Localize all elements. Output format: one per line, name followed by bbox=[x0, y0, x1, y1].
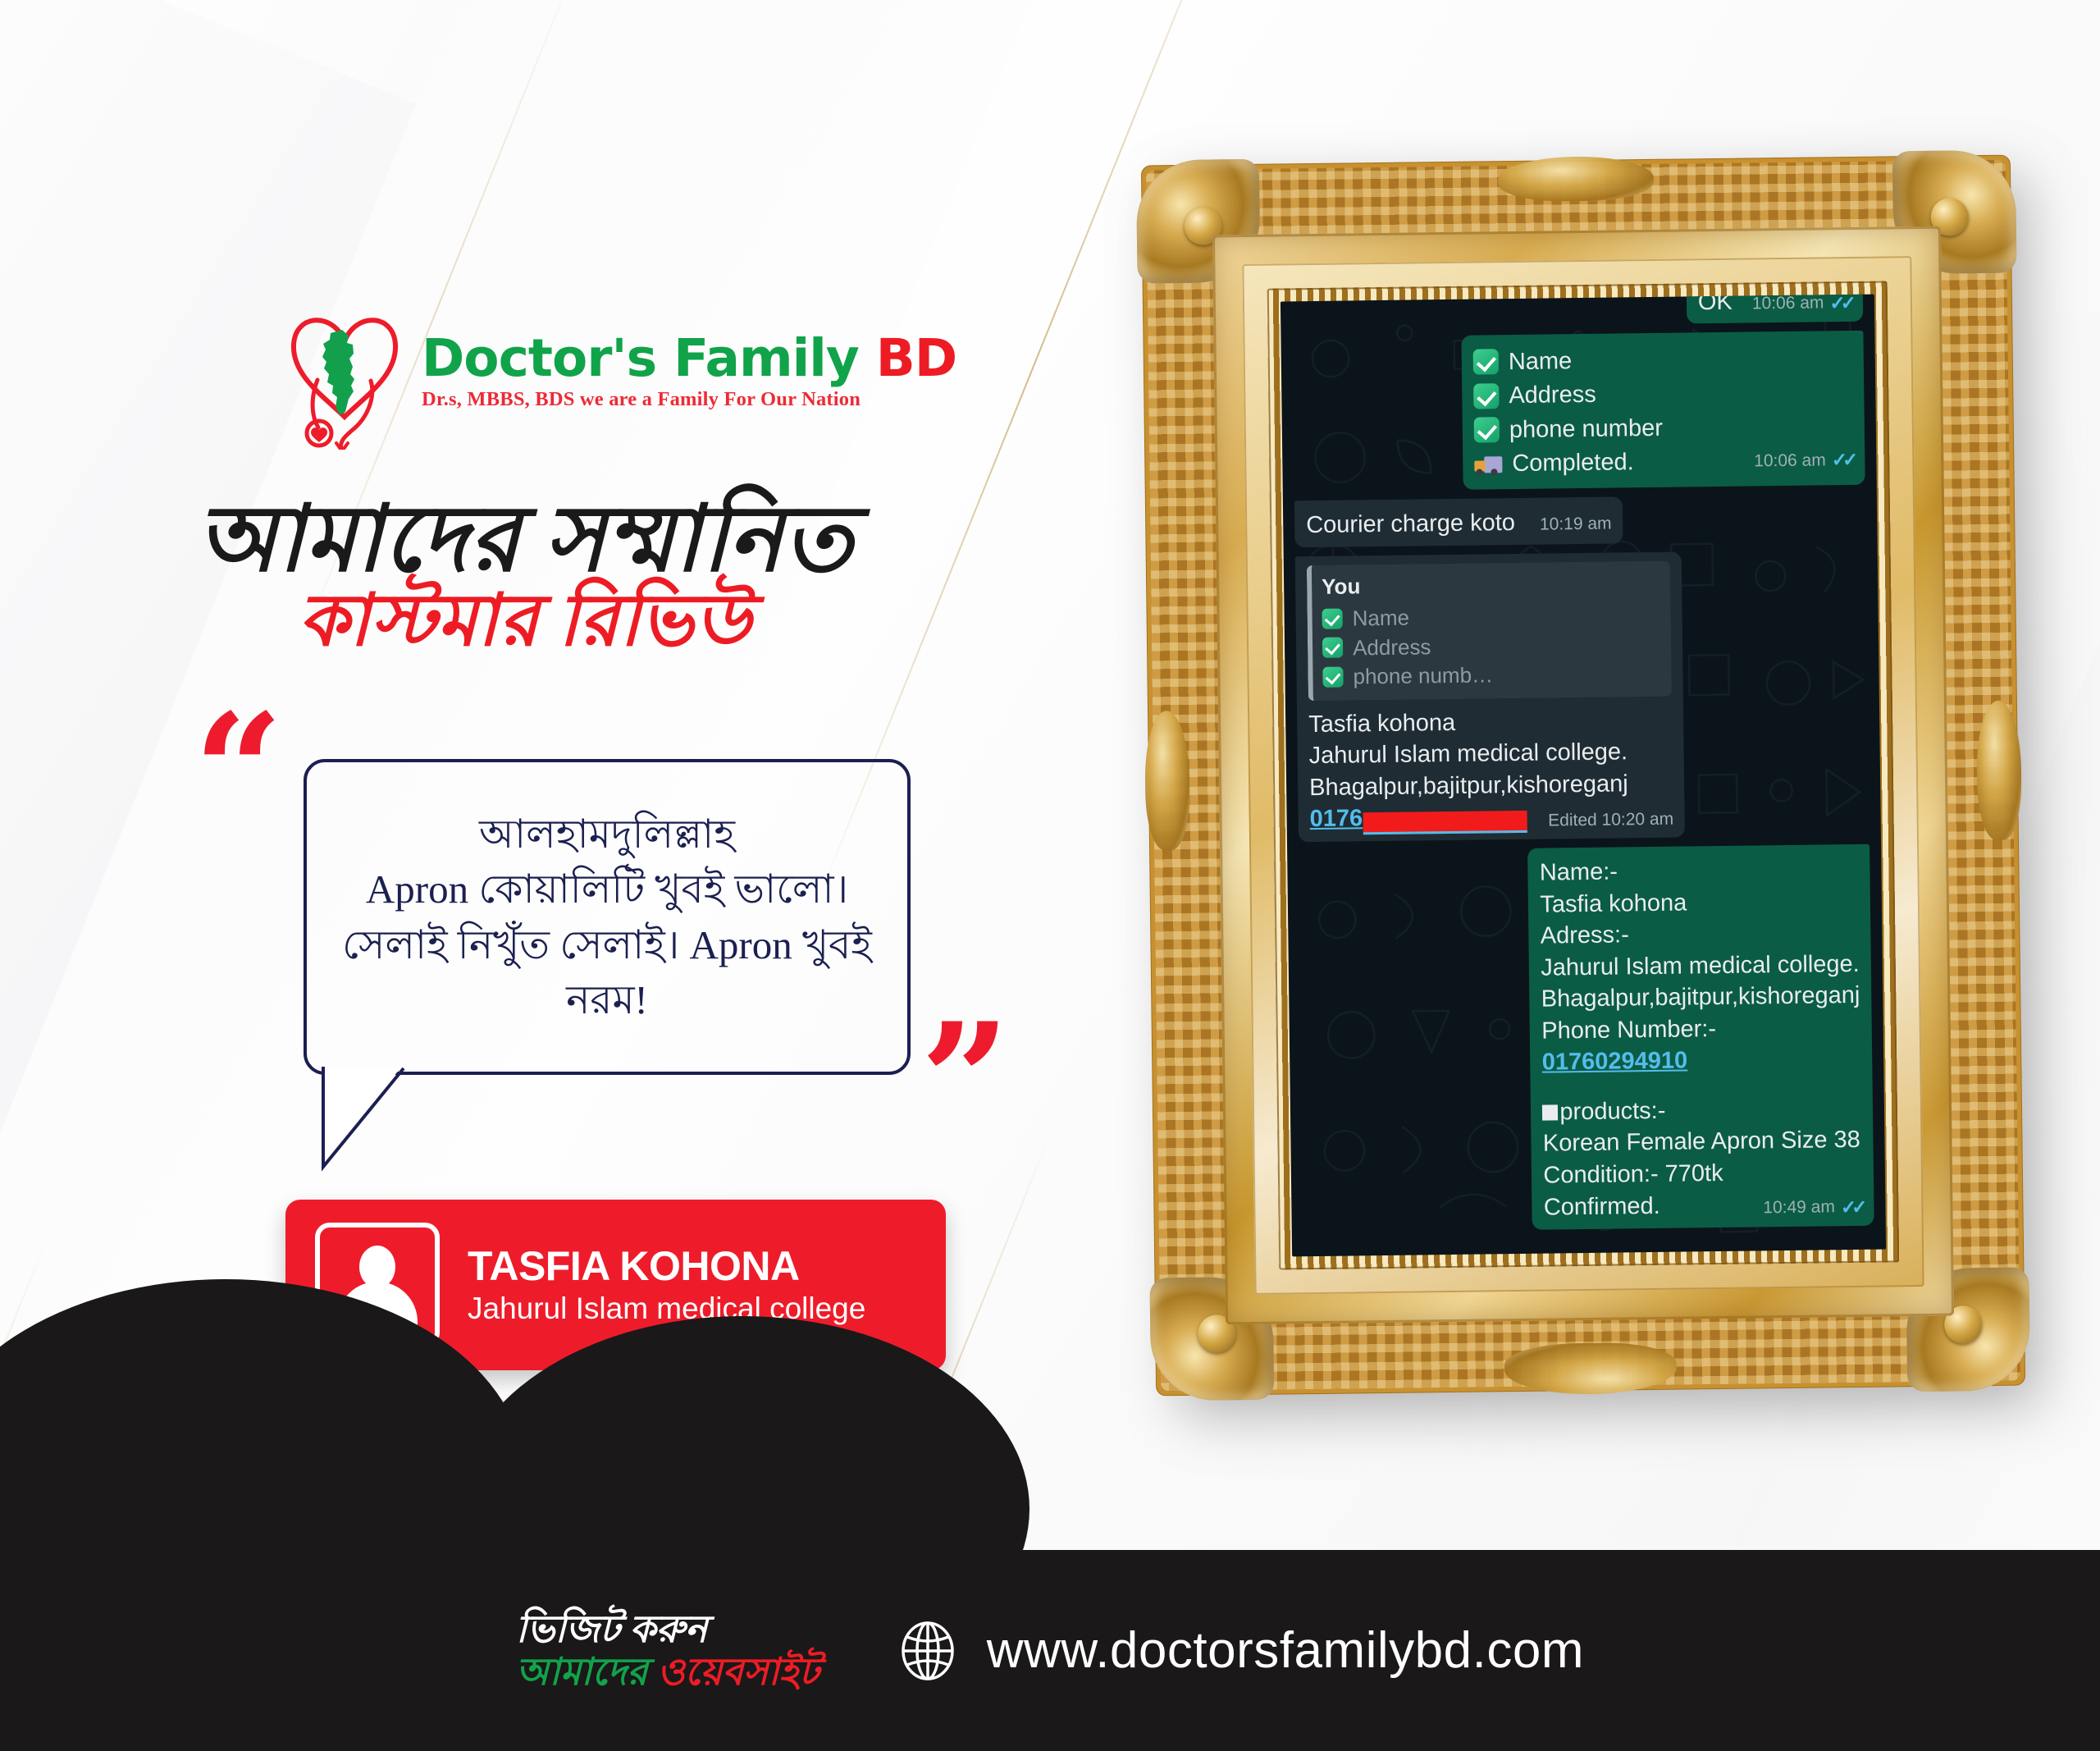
quoted-reply: You Name Address phone numb… bbox=[1307, 561, 1672, 701]
chat-message-customer-details[interactable]: You Name Address phone numb… bbox=[1295, 550, 1869, 842]
read-ticks-icon: ✓✓ bbox=[1841, 1194, 1863, 1219]
brand-tagline: Dr.s, MBBS, BDS we are a Family For Our … bbox=[422, 388, 956, 411]
truck-icon bbox=[1474, 454, 1502, 475]
visit-line-2: আমাদের ওয়েবসাইট bbox=[516, 1653, 819, 1692]
frame-edge-leaf bbox=[1498, 156, 1655, 202]
checklist-item: Address bbox=[1473, 376, 1852, 412]
page-title: আমাদের সম্মানিত কাস্টমার রিভিউ bbox=[0, 492, 1050, 660]
quoted-author: You bbox=[1322, 569, 1661, 601]
check-icon bbox=[1474, 418, 1500, 443]
check-icon bbox=[1473, 383, 1499, 409]
quoted-label: Name bbox=[1352, 604, 1409, 633]
check-icon bbox=[1322, 666, 1343, 687]
detail-line: Jahurul Islam medical college. bbox=[1308, 736, 1673, 772]
bubble-tail bbox=[322, 1067, 445, 1172]
customer-info: TASFIA KOHONA Jahurul Islam medical coll… bbox=[468, 1243, 865, 1327]
brand-title-red: BD bbox=[859, 328, 956, 388]
field-value: Tasfia kohona bbox=[1540, 885, 1859, 920]
quote-open-icon: “ bbox=[194, 693, 283, 849]
chat-message-checklist[interactable]: Name Address phone number Compl bbox=[1292, 330, 1865, 491]
quoted-label: Address bbox=[1353, 633, 1431, 662]
customer-name: TASFIA KOHONA bbox=[468, 1243, 865, 1289]
visit-line-1: ভিজিট করুন bbox=[516, 1610, 707, 1649]
brand-logo: Doctor's Family BD Dr.s, MBBS, BDS we ar… bbox=[279, 294, 956, 450]
brand-title: Doctor's Family BD bbox=[422, 332, 956, 384]
checklist-item: Name bbox=[1473, 342, 1852, 378]
message-time: 10:19 am bbox=[1540, 512, 1612, 536]
phone-number-partial[interactable]: 0176 bbox=[1309, 803, 1363, 835]
chat-message-courier-question[interactable]: Courier charge koto 10:19 am bbox=[1294, 494, 1866, 548]
message-text: OK bbox=[1698, 295, 1732, 316]
footer: ভিজিট করুন আমাদের ওয়েবসাইট www.doctorsf… bbox=[0, 1505, 2100, 1751]
checklist-item: phone number bbox=[1474, 410, 1853, 446]
quoted-item: Address bbox=[1322, 629, 1662, 662]
testimonial-bubble: আলহামদুলিল্লাহ Apron কোয়ালিটি খুবই ভালো… bbox=[304, 759, 911, 1075]
checklist-label: Completed. bbox=[1512, 446, 1634, 479]
check-icon bbox=[1322, 608, 1342, 629]
read-ticks-icon: ✓✓ bbox=[1829, 295, 1851, 316]
detail-line: Tasfia kohona bbox=[1308, 704, 1673, 740]
square-bullet-icon bbox=[1542, 1104, 1558, 1120]
field-label: Phone Number:- bbox=[1541, 1012, 1860, 1047]
visit-website-label: ভিজিট করুন আমাদের ওয়েবসাইট bbox=[516, 1610, 819, 1692]
quoted-item: Name bbox=[1322, 601, 1661, 633]
testimonial-text: আলহামদুলিল্লাহ Apron কোয়ালিটি খুবই ভালো… bbox=[321, 807, 893, 1027]
read-ticks-icon: ✓✓ bbox=[1832, 447, 1854, 473]
visit-line-2-red: ওয়েবসাইট bbox=[657, 1651, 819, 1693]
redaction-bar bbox=[1363, 811, 1527, 834]
phone-number-link[interactable]: 01760294910 bbox=[1541, 1043, 1860, 1078]
product-line: Korean Female Apron Size 38 bbox=[1543, 1124, 1862, 1159]
quoted-label: phone numb… bbox=[1353, 661, 1493, 691]
headline-line-1: আমাদের সম্মানিত bbox=[0, 492, 1050, 589]
field-value: Jahurul Islam medical college. Bhagalpur… bbox=[1541, 949, 1860, 1016]
check-icon bbox=[1473, 350, 1499, 375]
checklist-label: phone number bbox=[1509, 412, 1663, 446]
products-heading-text: products:- bbox=[1559, 1098, 1665, 1126]
message-time: Edited 10:20 am bbox=[1548, 808, 1673, 833]
website-url[interactable]: www.doctorsfamilybd.com bbox=[987, 1621, 1584, 1680]
visit-line-2-green: আমাদের bbox=[516, 1651, 657, 1693]
globe-icon bbox=[897, 1620, 959, 1682]
message-time: 10:49 am bbox=[1763, 1196, 1835, 1219]
field-label: Adress:- bbox=[1541, 917, 1860, 952]
field-label: Name:- bbox=[1540, 853, 1859, 889]
brand-title-green: Doctor's Family bbox=[422, 328, 859, 388]
message-text: Courier charge koto bbox=[1306, 510, 1515, 538]
heart-stethoscope-bangladesh-icon bbox=[279, 294, 410, 450]
product-line: Condition:- 770tk bbox=[1543, 1156, 1862, 1191]
brand-logo-text: Doctor's Family BD Dr.s, MBBS, BDS we ar… bbox=[422, 332, 956, 411]
checklist-label: Name bbox=[1509, 345, 1573, 378]
chat-message-order-summary[interactable]: Name:- Tasfia kohona Adress:- Jahurul Is… bbox=[1299, 844, 1874, 1233]
checklist-label: Address bbox=[1509, 379, 1596, 412]
whatsapp-chat-screen[interactable]: OK 10:06 am ✓✓ Name Address bbox=[1281, 295, 1886, 1257]
checklist-item: Completed. 10:06 am ✓✓ bbox=[1474, 444, 1853, 480]
chat-message-list: OK 10:06 am ✓✓ Name Address bbox=[1281, 295, 1886, 1257]
quote-close-icon: ” bbox=[920, 1003, 1010, 1159]
message-time: 10:06 am bbox=[1754, 449, 1826, 473]
product-line: Confirmed. bbox=[1544, 1190, 1660, 1223]
detail-line: Bhagalpur,bajitpur,kishoreganj bbox=[1309, 767, 1673, 803]
website-url-block[interactable]: www.doctorsfamilybd.com bbox=[897, 1620, 1584, 1682]
headline-line-2: কাস্টমার রিভিউ bbox=[0, 584, 1050, 660]
quoted-item: phone numb… bbox=[1322, 659, 1662, 692]
message-time: 10:06 am bbox=[1752, 295, 1824, 316]
gold-picture-frame: OK 10:06 am ✓✓ Name Address bbox=[1141, 155, 2025, 1397]
footer-content: ভিজিট করুন আমাদের ওয়েবসাইট www.doctorsf… bbox=[0, 1550, 2100, 1751]
products-heading: products:- bbox=[1542, 1093, 1861, 1128]
check-icon bbox=[1322, 638, 1343, 658]
